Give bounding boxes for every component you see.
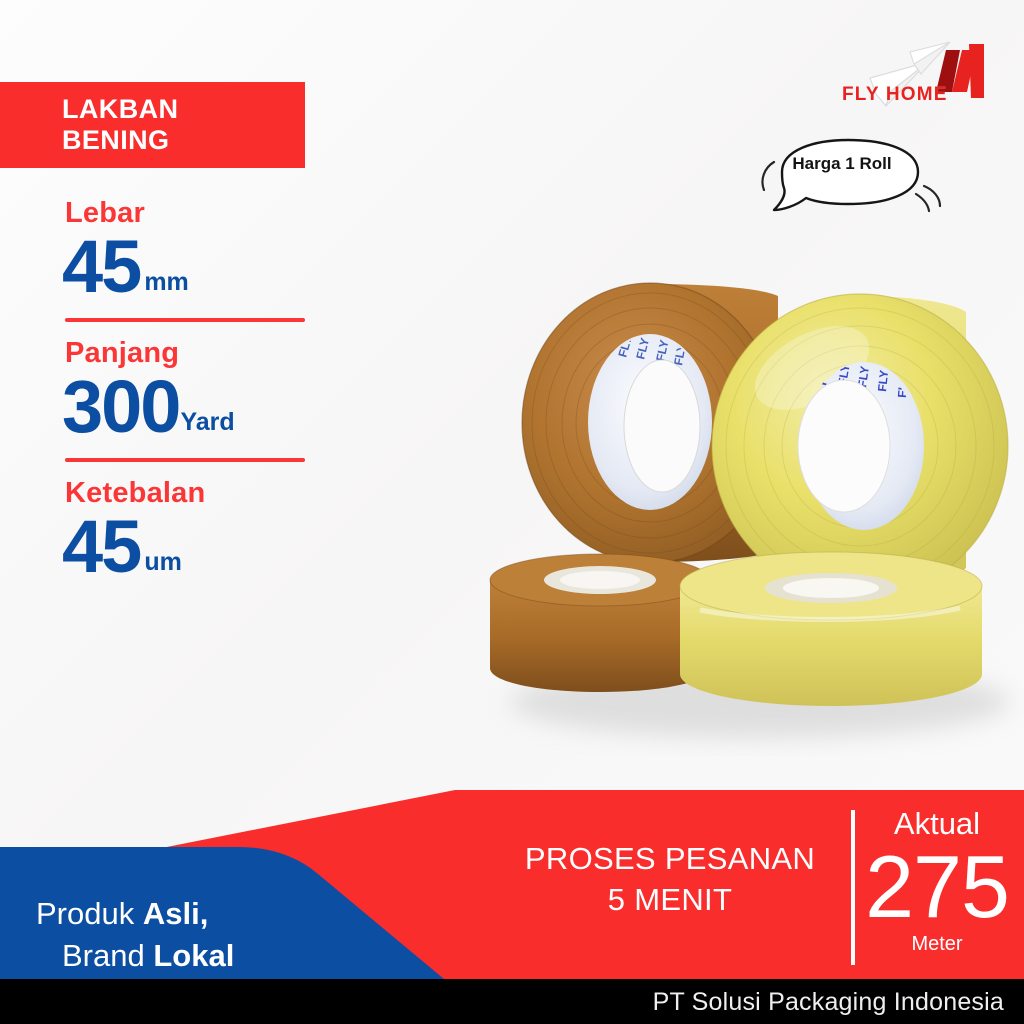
quality-line2-bold: Lokal: [153, 938, 234, 973]
quality-line1-plain: Produk: [36, 896, 143, 931]
poster-canvas: LAKBAN BENING Lebar 45 mm Panjang 300 Ya…: [0, 0, 1024, 1024]
quality-text-block: Produk Asli, Brand Lokal: [36, 893, 356, 977]
footer-company-name: PT Solusi Packaging Indonesia: [653, 988, 1004, 1017]
quality-line1: Produk Asli,: [36, 893, 356, 935]
quality-line2-plain: Brand: [62, 938, 153, 973]
quality-line2: Brand Lokal: [36, 935, 356, 977]
quality-line1-bold: Asli,: [143, 896, 208, 931]
quality-band: [0, 0, 1024, 1024]
